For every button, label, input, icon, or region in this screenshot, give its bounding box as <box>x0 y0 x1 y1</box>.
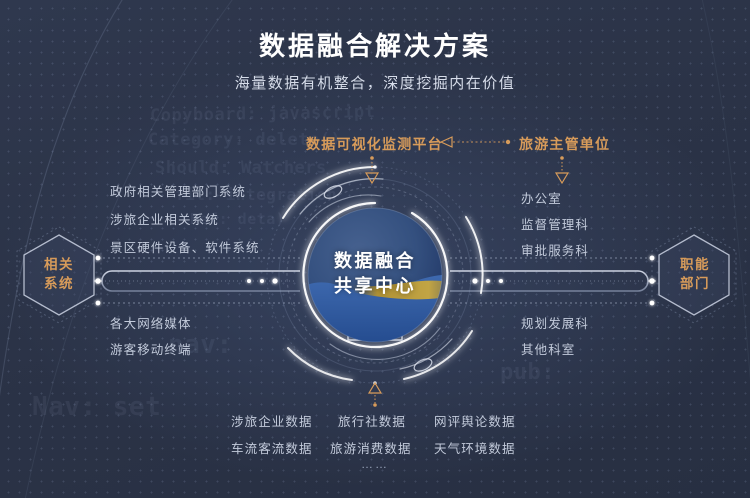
left-item-0[interactable]: 政府相关管理部门系统 <box>110 181 246 200</box>
right-item-1[interactable]: 监督管理科 <box>521 214 589 233</box>
top-connector-arrow <box>441 137 510 147</box>
left-item-1[interactable]: 涉旅企业相关系统 <box>110 209 219 228</box>
bottom-item-0[interactable]: 涉旅企业数据 <box>231 411 313 430</box>
right-item-4[interactable]: 其他科室 <box>521 339 575 358</box>
bottom-item-5[interactable]: 天气环境数据 <box>434 438 516 457</box>
hexagon-left-line1: 相关 <box>44 257 74 272</box>
right-connector-pipe <box>450 256 656 306</box>
right-item-0[interactable]: 办公室 <box>521 188 562 207</box>
bottom-up-marker <box>369 383 381 407</box>
authority-drop-marker <box>556 156 568 183</box>
core-hub-label: 数据融合 共享中心 <box>303 249 447 299</box>
infographic-canvas: Copyboard: javascript Category: delete()… <box>0 0 750 498</box>
hexagon-left-label: 相关 系统 <box>22 255 96 293</box>
label-visualization-platform[interactable]: 数据可视化监测平台 <box>306 134 443 154</box>
label-tourism-authority[interactable]: 旅游主管单位 <box>519 134 610 154</box>
right-item-3[interactable]: 规划发展科 <box>521 313 589 332</box>
page-title: 数据融合解决方案 <box>0 26 750 63</box>
right-item-2[interactable]: 审批服务科 <box>521 240 589 259</box>
bottom-item-2[interactable]: 网评舆论数据 <box>434 411 516 430</box>
ring-node-bottom-right <box>412 356 433 373</box>
left-item-3[interactable]: 各大网络媒体 <box>110 313 192 332</box>
core-hub-line1: 数据融合 <box>334 251 416 271</box>
bottom-item-4[interactable]: 旅游消费数据 <box>330 438 412 457</box>
bottom-item-1[interactable]: 旅行社数据 <box>338 411 406 430</box>
left-item-4[interactable]: 游客移动终端 <box>110 339 192 358</box>
page-subtitle: 海量数据有机整合，深度挖掘内在价值 <box>0 72 750 93</box>
hexagon-right-line2: 部门 <box>680 276 710 291</box>
left-item-2[interactable]: 景区硬件设备、软件系统 <box>110 237 260 256</box>
bottom-ellipsis: …… <box>0 457 750 471</box>
hexagon-left-line2: 系统 <box>44 276 74 291</box>
bottom-item-3[interactable]: 车流客流数据 <box>231 438 313 457</box>
hexagon-right-line1: 职能 <box>680 257 710 272</box>
hexagon-right-label: 职能 部门 <box>658 255 732 293</box>
core-hub-line2: 共享中心 <box>334 276 416 296</box>
